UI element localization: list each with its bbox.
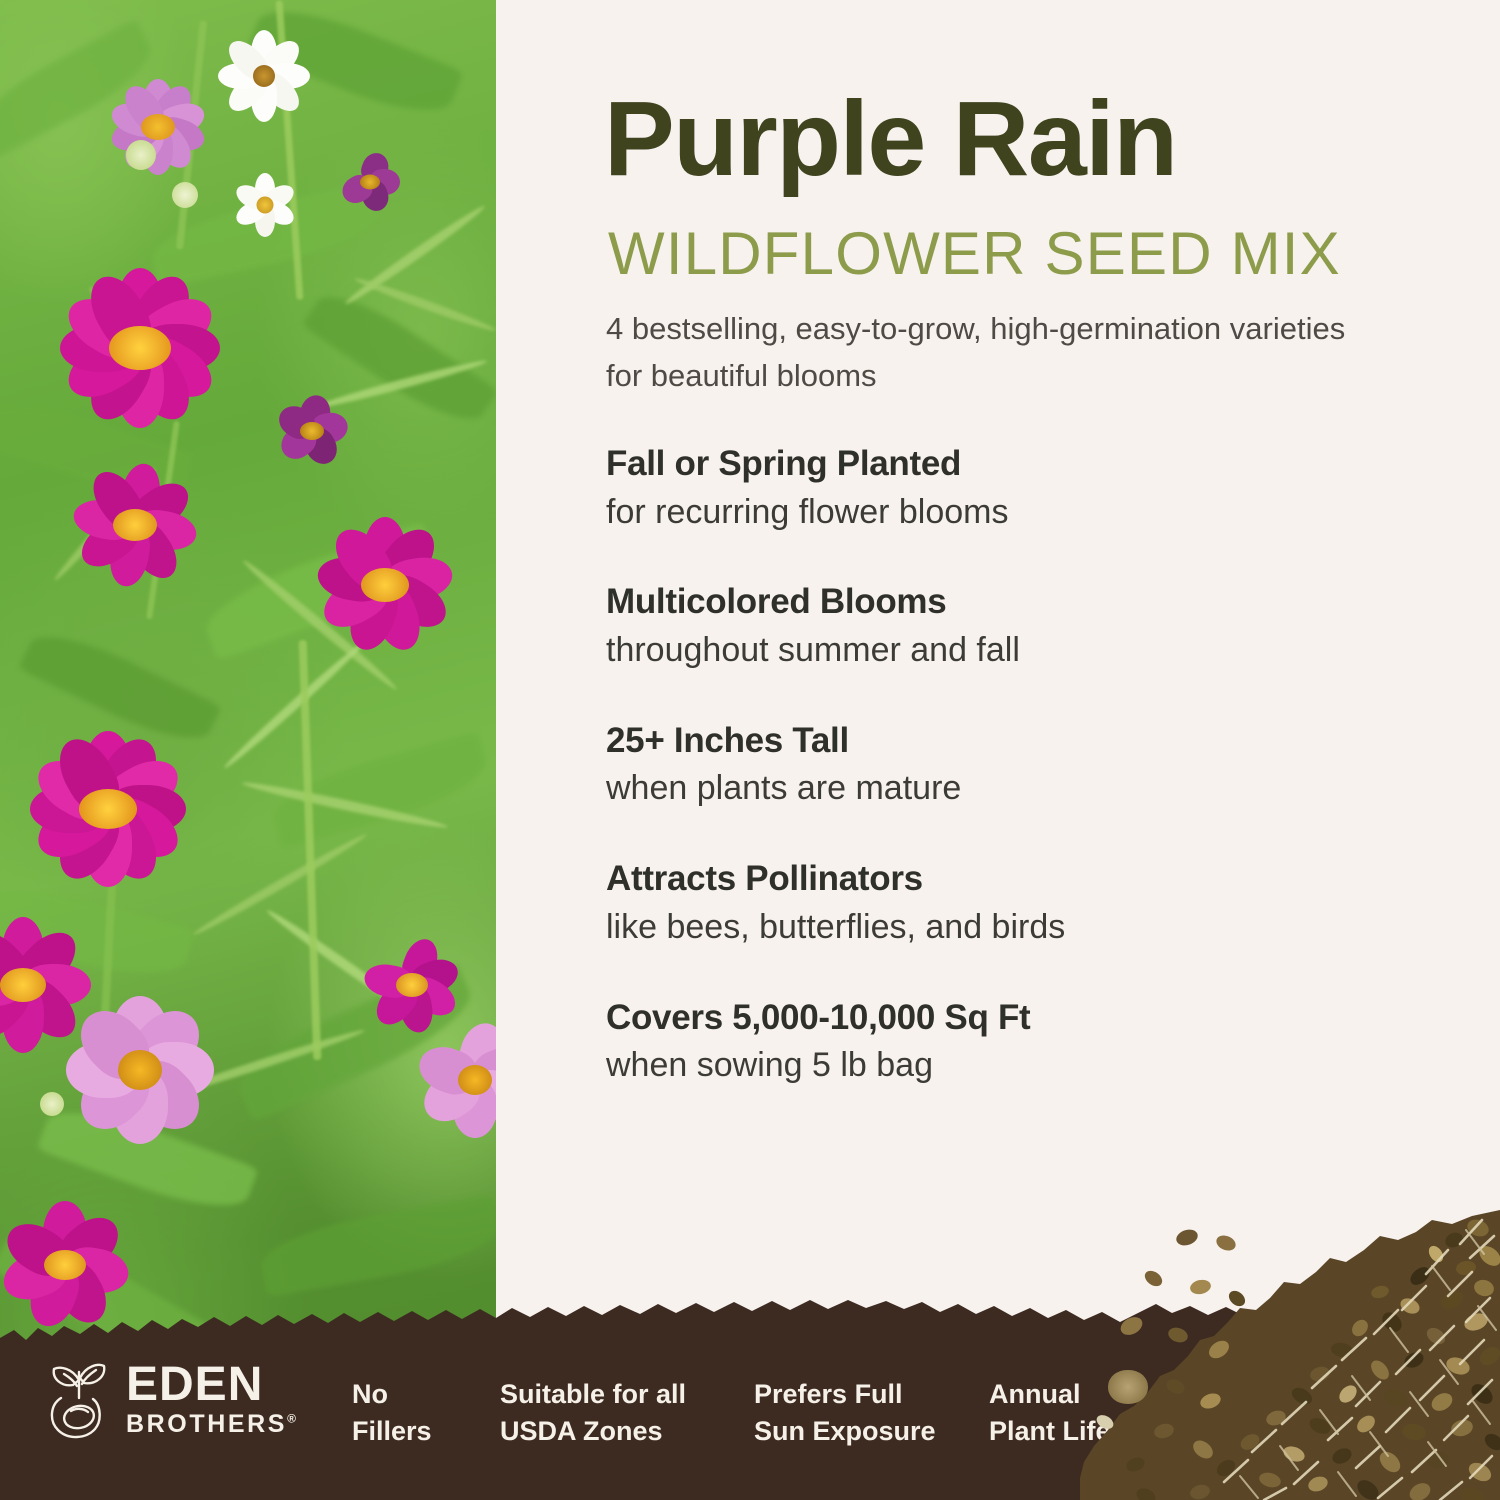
magenta-zinnia-flower	[300, 510, 470, 660]
white-cosmos-flower	[210, 22, 318, 130]
badge-usda-zones: Suitable for all USDA Zones	[500, 1376, 754, 1449]
product-description: 4 bestselling, easy-to-grow, high-germin…	[606, 306, 1366, 399]
logo-secondary-text: BROTHERS®	[126, 1411, 296, 1439]
badge-sun-exposure: Prefers Full Sun Exposure	[754, 1376, 989, 1449]
logo-wordmark: EDEN BROTHERS®	[126, 1361, 296, 1439]
purple-bud-flower	[330, 150, 410, 214]
logo-primary-text: EDEN	[126, 1361, 296, 1408]
feature-subtitle: when plants are mature	[606, 766, 1346, 812]
feature-subtitle: like bees, butterflies, and birds	[606, 905, 1346, 951]
badge-no-fillers: No Fillers	[352, 1376, 500, 1449]
feature-item: Attracts Pollinators like bees, butterfl…	[606, 856, 1346, 950]
sprout-seed-icon	[46, 1358, 112, 1442]
flower-bud	[172, 182, 198, 208]
feature-title: Covers 5,000-10,000 Sq Ft	[606, 995, 1346, 1041]
seed-pile-mass	[1080, 1210, 1500, 1500]
pink-cosmos-flower	[40, 985, 240, 1155]
registered-trademark-icon: ®	[287, 1412, 296, 1426]
feature-item: Covers 5,000-10,000 Sq Ft when sowing 5 …	[606, 995, 1346, 1089]
feature-item: Fall or Spring Planted for recurring flo…	[606, 441, 1346, 535]
product-subtitle: WILDFLOWER SEED MIX	[608, 222, 1341, 285]
feature-title: Attracts Pollinators	[606, 856, 1346, 902]
magenta-zinnia-flower	[60, 455, 210, 595]
wildflower-meadow-photo	[0, 0, 496, 1500]
magenta-zinnia-flower	[8, 720, 208, 898]
feature-title: 25+ Inches Tall	[606, 718, 1346, 764]
magenta-zinnia-flower	[40, 258, 240, 438]
product-title: Purple Rain	[604, 84, 1177, 194]
flower-bud	[126, 140, 156, 170]
wildflower-seed-pile	[1080, 1210, 1500, 1500]
purple-bud-flower	[264, 392, 360, 470]
feature-subtitle: when sowing 5 lb bag	[606, 1043, 1346, 1089]
feature-title: Multicolored Blooms	[606, 579, 1346, 625]
feature-item: Multicolored Blooms throughout summer an…	[606, 579, 1346, 673]
feature-item: 25+ Inches Tall when plants are mature	[606, 718, 1346, 812]
pink-zinnia-flower	[98, 72, 218, 182]
feature-subtitle: for recurring flower blooms	[606, 490, 1346, 536]
flower-bud	[40, 1092, 64, 1116]
white-cosmos-flower	[228, 168, 302, 242]
feature-subtitle: throughout summer and fall	[606, 628, 1346, 674]
eden-brothers-logo[interactable]: EDEN BROTHERS®	[46, 1358, 296, 1442]
magenta-zinnia-flower	[352, 930, 472, 1040]
feature-list: Fall or Spring Planted for recurring flo…	[606, 441, 1346, 1089]
feature-title: Fall or Spring Planted	[606, 441, 1346, 487]
logo-secondary-label: BROTHERS	[126, 1410, 287, 1438]
product-feature-card: Purple Rain WILDFLOWER SEED MIX 4 bestse…	[0, 0, 1500, 1500]
